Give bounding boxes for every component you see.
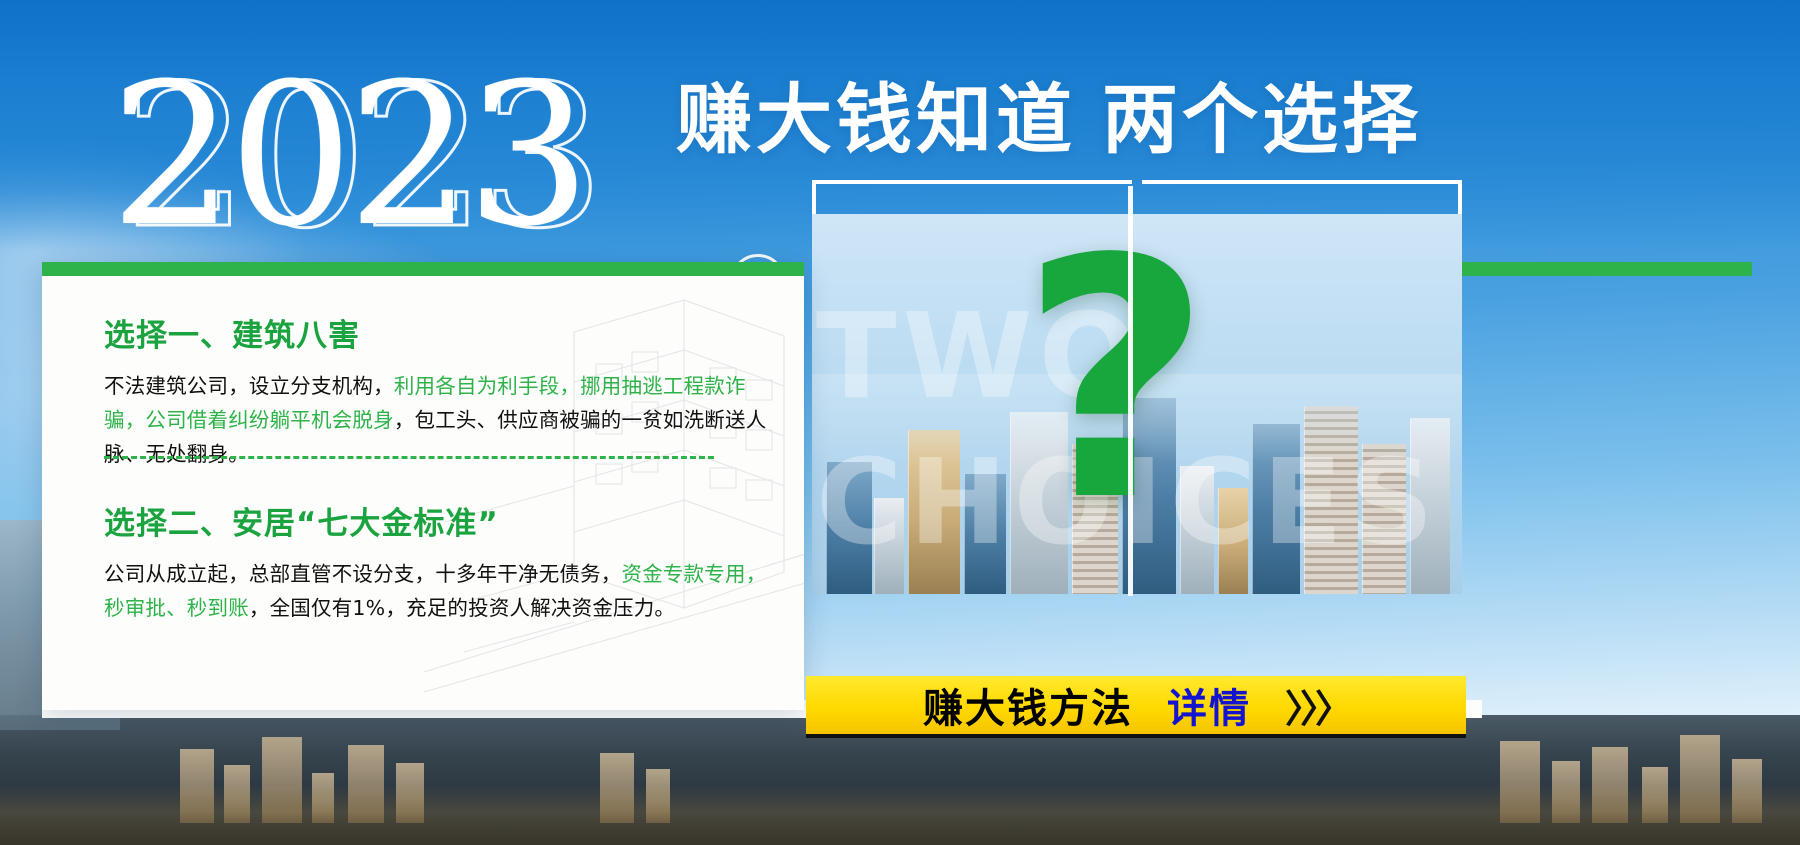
card-accent-bar (42, 262, 804, 276)
headline-rule-left-tick (812, 180, 816, 214)
section-one-title: 选择一、建筑八害 (104, 310, 804, 355)
run-black-2: ，全国仅有1%，充足的投资人解决资金压力。 (249, 596, 675, 620)
content-card: 选择一、建筑八害 不法建筑公司，设立分支机构，利用各自为利手段，挪用抽逃工程款诈… (42, 262, 804, 710)
cta-main-label: 赚大钱方法 (923, 676, 1133, 734)
page-title: 赚大钱知道两个选择 (676, 78, 1422, 162)
card-section-two: 选择二、安居“七大金标准” 公司从成立起，总部直管不设分支，十多年干净无债务，资… (104, 498, 804, 625)
run-black: 公司从成立起，总部直管不设分支，十多年干净无债务， (104, 562, 622, 586)
card-section-one: 选择一、建筑八害 不法建筑公司，设立分支机构，利用各自为利手段，挪用抽逃工程款诈… (104, 310, 804, 471)
headline-part-two: 两个选择 (1102, 75, 1422, 164)
headline-part-one: 赚大钱知道 (676, 75, 1076, 164)
panel-vertical-divider (1128, 186, 1133, 596)
section-divider (104, 456, 714, 459)
run-black: 不法建筑公司，设立分支机构， (104, 374, 394, 398)
accent-bar-right (1462, 262, 1752, 276)
headline-rule-right-tick (1458, 180, 1462, 214)
section-two-title: 选择二、安居“七大金标准” (104, 498, 804, 543)
cta-banner[interactable]: 赚大钱方法 详情 〉〉〉 (806, 676, 1466, 738)
question-mark-icon: ? (1020, 216, 1211, 546)
cta-details-link[interactable]: 详情 (1167, 676, 1251, 734)
headline-rule-left (812, 180, 1132, 184)
headline-rule-right (1142, 180, 1462, 184)
waterfront-glow (0, 785, 1800, 845)
poster-canvas: 2023 2023 年 赚大钱知道两个选择 TWO CHOICES (0, 0, 1800, 845)
chevron-right-icon: 〉〉〉 (1285, 678, 1349, 733)
section-two-paragraph: 公司从成立起，总部直管不设分支，十多年干净无债务，资金专款专用，秒审批、秒到账，… (104, 557, 782, 625)
